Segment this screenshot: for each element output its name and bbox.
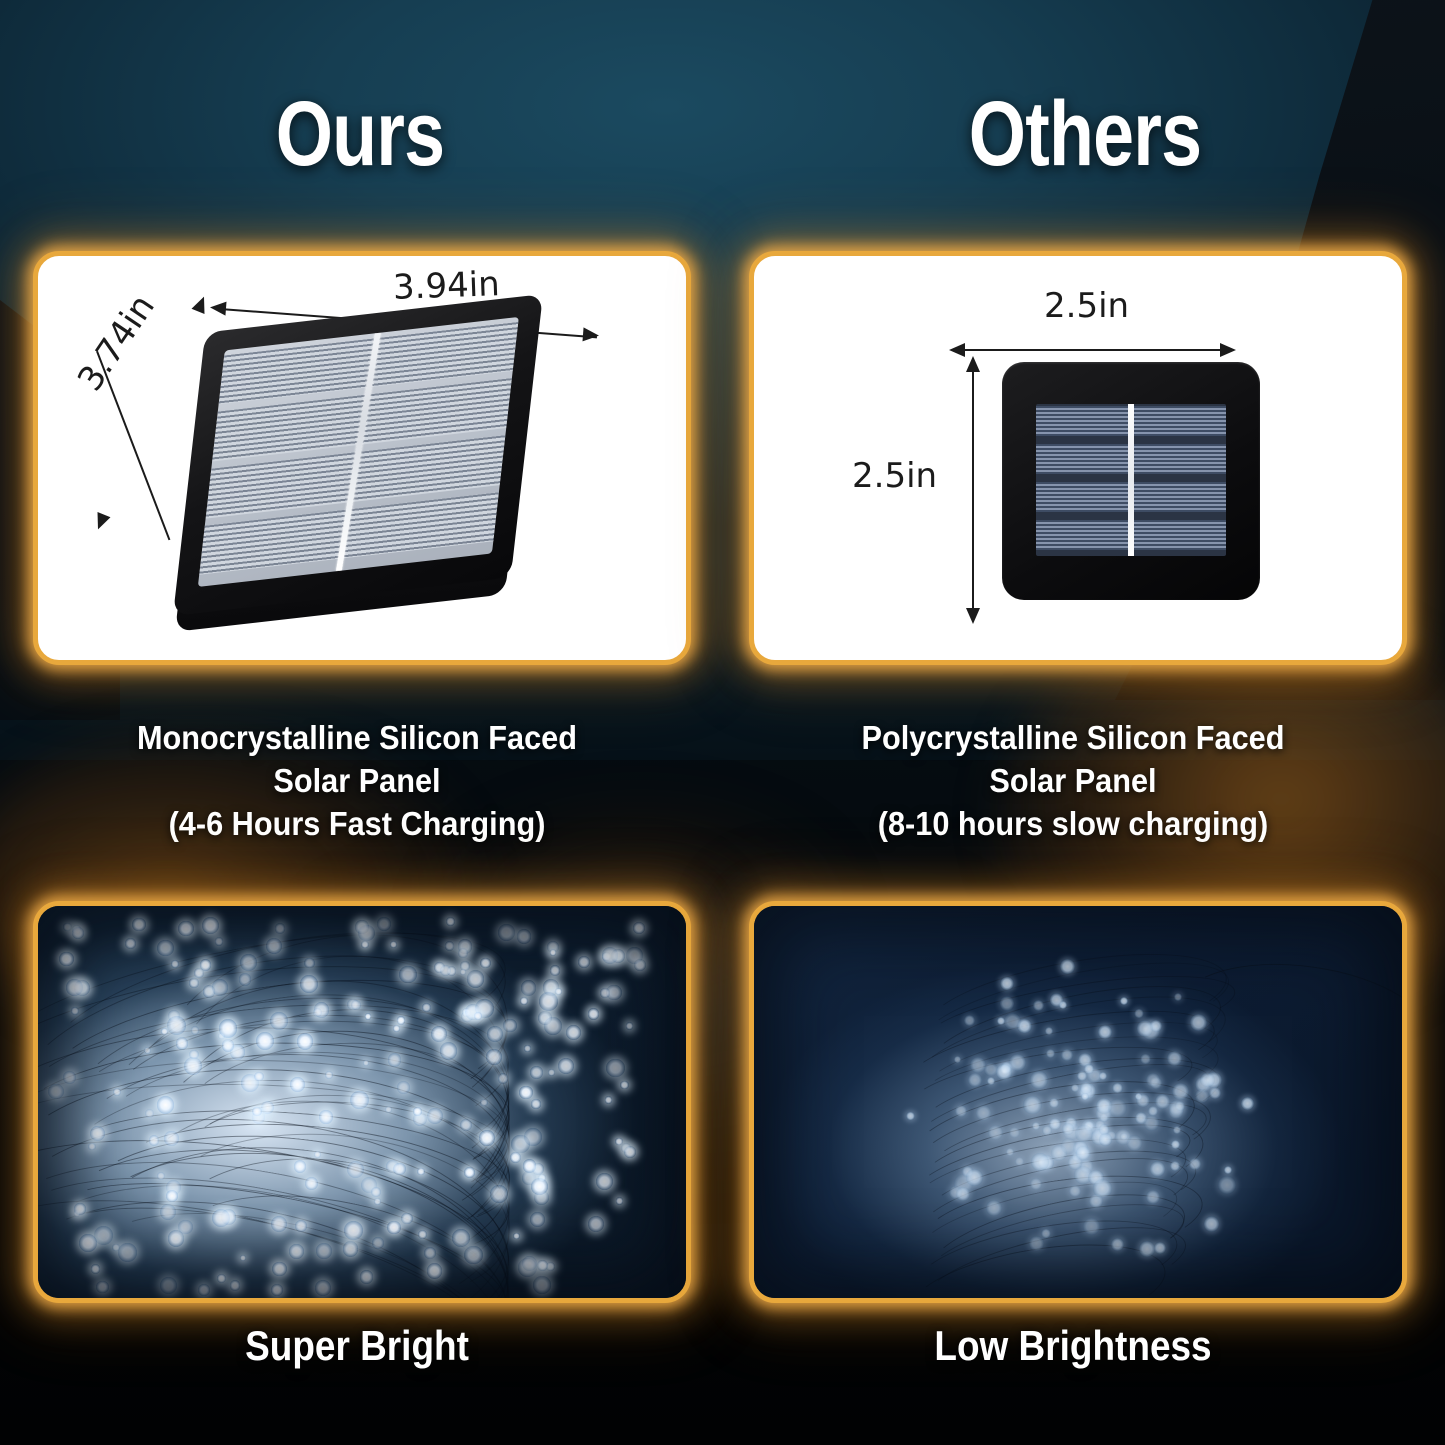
led-bulb [1175, 1101, 1185, 1111]
caption-line: Solar Panel [56, 760, 659, 803]
led-bulb [1172, 1083, 1189, 1100]
led-bulb [633, 922, 645, 934]
caption-line: Monocrystalline Silicon Faced [56, 717, 659, 760]
led-bulb [212, 1209, 230, 1227]
led-bulb [520, 997, 528, 1005]
led-bulb [530, 1066, 543, 1079]
led-bulb [372, 1237, 384, 1249]
heading-ours: Ours [80, 88, 640, 180]
led-bulb [519, 1086, 532, 1099]
led-bulb [1061, 1049, 1072, 1060]
led-bulb [361, 941, 368, 948]
led-bulb [344, 1221, 363, 1240]
led-bulb [1075, 1125, 1092, 1142]
led-bulb [1081, 1093, 1089, 1101]
led-bulb [427, 1263, 443, 1279]
led-bulb [1173, 1126, 1181, 1134]
comparison-infographic: Ours Others 3.94in 3.74in [0, 0, 1445, 1445]
dimension-arrow-height-others [972, 368, 974, 610]
led-bulb [460, 1119, 472, 1131]
led-bulb [160, 1204, 176, 1220]
led-bulb [393, 1025, 400, 1032]
led-bulb [325, 1071, 333, 1079]
led-bulb [176, 1037, 189, 1050]
led-bulb [1112, 1083, 1122, 1093]
led-bulb [113, 1088, 121, 1096]
led-bulb [212, 979, 228, 995]
led-bulb [1224, 1166, 1232, 1174]
led-bulb [90, 1126, 105, 1141]
led-bulb [1050, 993, 1063, 1006]
led-bulb [1080, 1082, 1092, 1094]
led-bulb [300, 975, 318, 993]
led-bulb [1137, 1020, 1154, 1037]
led-bulb [1146, 1073, 1160, 1087]
led-bulb [189, 978, 199, 988]
led-bulb [1069, 1185, 1081, 1197]
led-bulb [626, 1022, 633, 1029]
led-bulb [1009, 1127, 1020, 1138]
led-bulb [347, 1161, 364, 1178]
led-bulb [397, 1016, 405, 1024]
led-bulb [215, 937, 224, 946]
led-bulb [164, 1131, 178, 1145]
led-bulb [304, 958, 314, 968]
led-bulb [413, 1107, 422, 1116]
led-bulb [79, 1234, 97, 1252]
led-bulb [521, 980, 536, 995]
caption-line: Solar Panel [772, 760, 1375, 803]
led-bulb [956, 1187, 970, 1201]
led-bulb [490, 1185, 508, 1203]
led-bulb [125, 938, 136, 949]
led-bulb [1170, 1161, 1179, 1170]
led-bulb [200, 959, 211, 970]
led-bulb [1134, 1009, 1144, 1019]
arrowhead-width-left-ours [209, 300, 226, 315]
led-bulb [1146, 1190, 1160, 1204]
led-bulb [157, 940, 174, 957]
led-bulb [602, 947, 618, 963]
led-bulb [1046, 1049, 1055, 1058]
solar-panel-body-others [1002, 362, 1260, 600]
led-bulb [191, 1026, 200, 1035]
led-bulb [343, 1241, 358, 1256]
led-bulb [219, 1019, 237, 1037]
led-bulb [1171, 1140, 1180, 1149]
led-bulb [1111, 1238, 1124, 1251]
led-bulb [1031, 1153, 1050, 1172]
led-bulb [1136, 1094, 1149, 1107]
led-bulb [157, 1172, 165, 1180]
caption-others: Polycrystalline Silicon Faced Solar Pane… [772, 717, 1375, 846]
led-bulb [976, 1105, 991, 1120]
caption-line: Polycrystalline Silicon Faced [772, 717, 1375, 760]
led-bulb [966, 1169, 983, 1186]
dimension-label-height-others: 2.5in [852, 456, 937, 496]
led-bulb [132, 918, 146, 932]
led-bulb [1030, 1178, 1041, 1189]
led-bulb [606, 1059, 624, 1077]
led-bulb [1154, 1242, 1166, 1254]
led-bulb [374, 1198, 381, 1205]
led-bulb [616, 1197, 623, 1204]
dimension-label-depth-ours: 3.74in [70, 288, 163, 399]
led-bulb [954, 1056, 961, 1063]
solar-panel-glass-ours [198, 317, 519, 587]
led-bulb [239, 973, 252, 986]
led-bulb [445, 941, 455, 951]
brightness-label-ours: Super Bright [72, 1325, 642, 1367]
led-bulb [440, 965, 451, 976]
led-bulb [1189, 1158, 1201, 1170]
led-bulb [305, 1177, 318, 1190]
led-bulb [986, 1200, 1002, 1216]
led-bulb [91, 1264, 100, 1273]
caption-line: (8-10 hours slow charging) [772, 803, 1375, 846]
led-bulb [360, 1270, 374, 1284]
led-bulb [605, 1096, 612, 1103]
led-bulb [74, 1203, 85, 1214]
led-bulb [240, 1255, 246, 1261]
led-bulb [1041, 1229, 1051, 1239]
led-bulb [424, 1247, 436, 1259]
led-bulb [620, 1081, 628, 1089]
led-bulb [417, 1168, 424, 1175]
led-bulb [566, 1025, 581, 1040]
led-bulb [539, 992, 558, 1011]
led-bulb [59, 952, 73, 966]
led-bulb [906, 1112, 914, 1120]
led-bulb [513, 1233, 519, 1239]
led-bulb [149, 1135, 159, 1145]
arrowhead-height-top-others [966, 356, 980, 372]
led-bulb [464, 1246, 482, 1264]
led-bulb [350, 1091, 368, 1109]
led-bulb [523, 1159, 536, 1172]
solar-panel-illustration-ours: 3.94in 3.74in [38, 256, 686, 660]
led-bulb [530, 1212, 545, 1227]
led-bulb [427, 1108, 443, 1124]
led-bulb [1033, 1000, 1044, 1011]
led-bulb [63, 923, 71, 931]
led-bulb [1077, 1071, 1086, 1080]
led-bulb [550, 965, 561, 976]
led-bulb [479, 1130, 495, 1146]
led-bulb [295, 1220, 307, 1232]
card-light-photo-others [749, 901, 1407, 1303]
led-bulb [498, 1073, 509, 1084]
led-bulb [517, 929, 531, 943]
arrowhead-width-right-others [1220, 343, 1236, 357]
led-bulb [266, 938, 282, 954]
led-bulb [290, 1077, 305, 1092]
led-bulb [230, 1280, 241, 1291]
led-bulb [94, 1226, 113, 1245]
led-bulb [1204, 1216, 1220, 1232]
led-bulb [624, 1146, 636, 1158]
led-bulb [294, 1160, 307, 1173]
led-bulb [72, 927, 84, 939]
dimension-arrow-width-others [959, 349, 1225, 351]
led-bulb [1098, 1025, 1112, 1039]
arrowhead-width-left-others [949, 343, 965, 357]
led-string-lights-bright [38, 906, 686, 1298]
led-bulb [486, 1049, 502, 1065]
card-solar-panel-others: 2.5in 2.5in [749, 251, 1407, 665]
led-bulb [970, 1057, 986, 1073]
led-bulb [1108, 1099, 1127, 1118]
led-bulb [161, 1028, 168, 1035]
led-bulb [272, 1262, 286, 1276]
solar-panel-glass-others [1036, 404, 1226, 556]
led-bulb [480, 1099, 487, 1106]
led-bulb [626, 947, 643, 964]
led-bulb [446, 917, 455, 926]
arrowhead-width-right-ours [582, 327, 599, 342]
led-bulb [160, 1277, 177, 1294]
led-bulb [261, 1101, 274, 1114]
led-bulb [600, 988, 610, 998]
led-bulb [1049, 1098, 1059, 1108]
card-light-photo-ours [33, 901, 691, 1303]
led-bulb [48, 1084, 63, 1099]
led-bulb [270, 1012, 288, 1030]
led-bulb [1023, 1096, 1042, 1115]
led-bulb [524, 1128, 542, 1146]
heading-others: Others [805, 88, 1365, 180]
led-bulb [289, 1244, 304, 1259]
led-bulb [240, 954, 257, 971]
led-bulb [474, 1012, 481, 1019]
led-bulb [1060, 959, 1075, 974]
led-bulb [1030, 1071, 1047, 1088]
dimension-label-width-others: 2.5in [1044, 286, 1129, 326]
led-bulb [1140, 1054, 1151, 1065]
caption-ours: Monocrystalline Silicon Faced Solar Pane… [56, 717, 659, 846]
brightness-label-others: Low Brightness [788, 1325, 1358, 1367]
led-bulb [1042, 1126, 1051, 1135]
led-bulb [184, 1057, 202, 1075]
led-bulb [1139, 1241, 1155, 1257]
led-bulb [1209, 1087, 1221, 1099]
led-bulb [1099, 1133, 1112, 1146]
led-bulb [987, 1077, 995, 1085]
led-string-lights-dim [754, 906, 1402, 1298]
led-bulb [1000, 996, 1015, 1011]
led-bulb [189, 1050, 198, 1059]
led-bulb [66, 979, 83, 996]
arrowhead-height-bottom-others [966, 608, 980, 624]
solar-panel-body-ours [173, 294, 543, 616]
solar-panel-illustration-others: 2.5in 2.5in [754, 256, 1402, 660]
caption-line: (4-6 Hours Fast Charging) [56, 803, 659, 846]
led-bulb [1195, 1089, 1209, 1103]
led-bulb [464, 1167, 475, 1178]
led-bulb [480, 958, 491, 969]
card-solar-panel-ours: 3.94in 3.74in [33, 251, 691, 665]
led-bulb [393, 1163, 406, 1176]
led-bulb [297, 1033, 314, 1050]
arrowhead-depth-top-ours [192, 294, 211, 314]
arrowhead-depth-bottom-ours [92, 512, 111, 532]
led-bulb [524, 1045, 530, 1051]
led-bulb [440, 1042, 457, 1059]
led-bulb [1099, 1072, 1107, 1080]
dimension-arrow-depth-ours [96, 351, 170, 540]
led-bulb [157, 1096, 175, 1114]
led-bulb [1150, 1161, 1166, 1177]
led-bulb [118, 1243, 137, 1262]
led-bulb [365, 1013, 371, 1019]
led-bulb [555, 988, 562, 995]
led-bulb [252, 1107, 261, 1116]
led-bulb [531, 1099, 540, 1108]
led-bulb [533, 1276, 551, 1294]
led-bulb [452, 1229, 470, 1247]
solar-panel-busbar-others [1128, 404, 1134, 556]
led-bulb [319, 1110, 332, 1123]
led-bulb [1200, 1073, 1215, 1088]
led-bulb [1144, 1115, 1159, 1130]
led-bulb [1061, 1138, 1077, 1154]
led-bulb [71, 1007, 79, 1015]
led-bulb [387, 1221, 400, 1234]
led-bulb [1218, 1176, 1236, 1194]
led-bulb [399, 966, 417, 984]
led-bulb [275, 923, 285, 933]
led-bulb [314, 1151, 321, 1158]
led-bulb [1093, 1179, 1112, 1198]
